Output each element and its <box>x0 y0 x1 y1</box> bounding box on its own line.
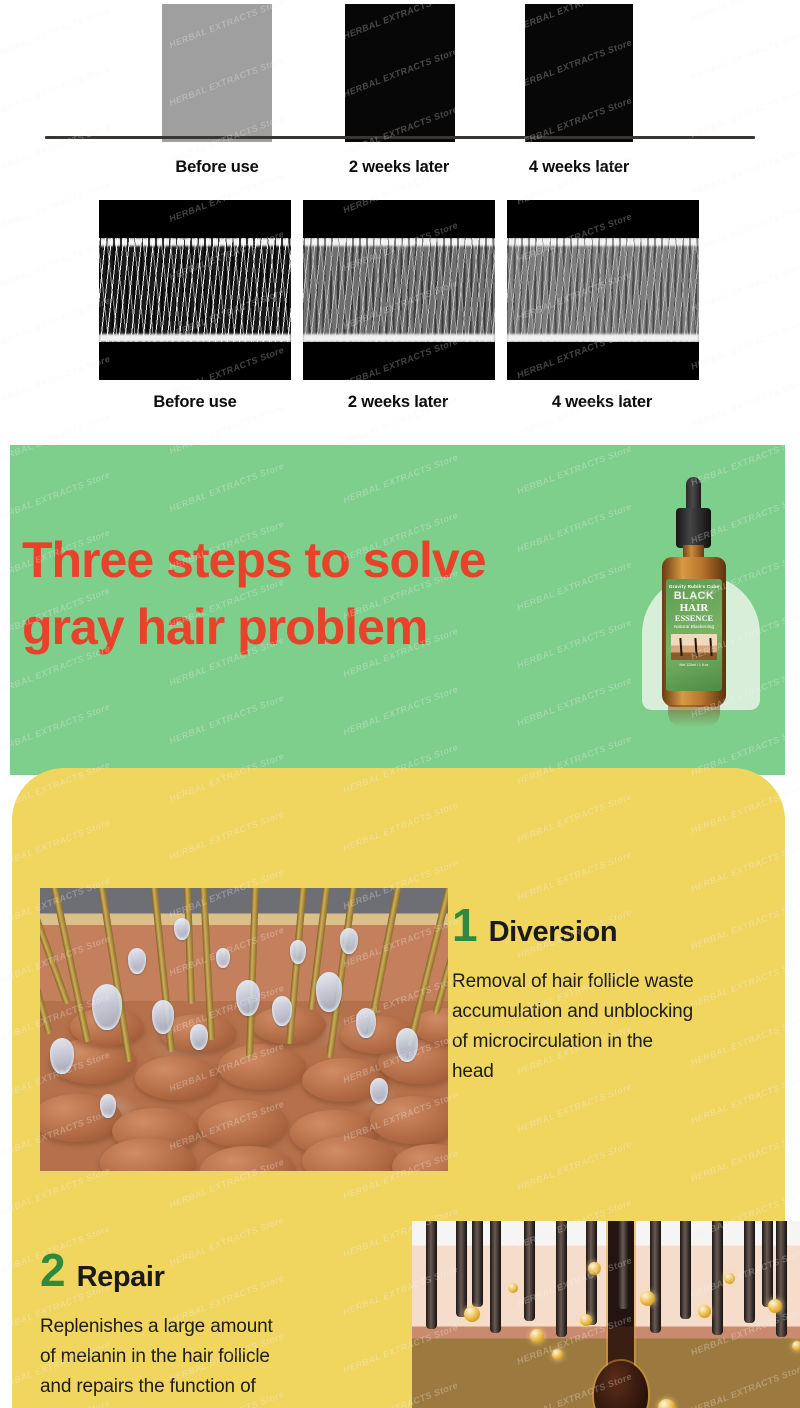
melanin-particle <box>580 1314 592 1326</box>
melanin-particle <box>552 1349 563 1360</box>
hair-shaft <box>762 1221 773 1307</box>
melanin-particle <box>658 1399 675 1408</box>
step-1-body: Removal of hair follicle waste accumulat… <box>452 967 782 1087</box>
bottle-body: Gravity Rubik's Cube BLACK HAIR ESSENCE … <box>662 557 726 707</box>
water-droplet <box>128 948 146 974</box>
bottle-tagline: Natural Blackening <box>666 625 722 630</box>
water-droplet <box>50 1038 74 1074</box>
step-1-number: 1 <box>452 905 477 946</box>
hair-shaft <box>524 1221 535 1321</box>
step-1-image-scalp-cleansing <box>40 888 448 1171</box>
step-1-text-block: 1 Diversion Removal of hair follicle was… <box>452 905 782 1087</box>
chart-category-labels: Before use 2 weeks later 4 weeks later <box>0 158 800 186</box>
cuticle-texture <box>303 238 495 342</box>
hair-shaft <box>650 1221 661 1333</box>
microscope-image-4-weeks <box>507 200 699 380</box>
step-1-body-line-1: Removal of hair follicle waste <box>452 967 782 997</box>
water-droplet <box>190 1024 208 1050</box>
artwork-hair-3 <box>709 638 712 656</box>
hair-shaft <box>426 1221 437 1329</box>
step-1-body-line-3: of microcirculation in the <box>452 1027 782 1057</box>
melanin-particle <box>698 1305 711 1318</box>
water-droplet <box>236 980 260 1016</box>
water-droplet <box>370 1078 388 1104</box>
skin-cell <box>135 1056 219 1100</box>
scalp-illustration <box>40 888 448 1171</box>
follicle-illustration <box>412 1221 800 1408</box>
dropper-cap <box>676 508 711 548</box>
water-droplet <box>174 918 190 940</box>
hair-shaft-band <box>507 238 699 342</box>
melanin-particle <box>464 1306 480 1322</box>
hair-shaft <box>680 1221 691 1319</box>
hair-shaft <box>618 1221 629 1309</box>
water-droplet <box>92 984 122 1030</box>
product-bottle: Gravity Rubik's Cube BLACK HAIR ESSENCE … <box>642 475 762 735</box>
chart-label-before-use: Before use <box>147 158 287 177</box>
hair-shaft <box>490 1221 501 1333</box>
hair-shaft <box>712 1221 723 1335</box>
melanin-particle <box>724 1273 735 1284</box>
infographic-page: Before use 2 weeks later 4 weeks later <box>0 0 800 1408</box>
water-droplet <box>100 1094 116 1118</box>
step-2-image-follicle-melanin <box>412 1221 800 1408</box>
bottle-label: Gravity Rubik's Cube BLACK HAIR ESSENCE … <box>666 579 722 691</box>
left-margin-strip <box>0 1155 12 1408</box>
step-2-body: Replenishes a large amount of melanin in… <box>40 1312 370 1402</box>
water-droplet <box>396 1028 418 1062</box>
bottle-name-black: BLACK <box>666 591 722 603</box>
follicle-bulb <box>594 1361 648 1408</box>
skin-cell <box>198 1100 288 1148</box>
hair-shaft <box>776 1221 787 1337</box>
water-droplet <box>152 1000 174 1034</box>
chart-baseline-axis <box>45 136 755 139</box>
bottle-name-essence: ESSENCE <box>666 614 722 624</box>
melanin-particle <box>792 1341 800 1351</box>
hair-shaft-band <box>99 238 291 342</box>
hair-shaft <box>472 1221 483 1307</box>
hero-banner: Three steps to solve gray hair problem G… <box>10 445 785 775</box>
water-droplet <box>356 1008 376 1038</box>
microscope-labels: Before use 2 weeks later 4 weeks later <box>0 393 800 421</box>
step-1-heading: 1 Diversion <box>452 905 782 949</box>
skin-cell <box>218 1044 306 1090</box>
hair-shaft <box>556 1221 567 1337</box>
artwork-hair-2 <box>694 638 697 656</box>
bar-4-weeks-later <box>525 4 633 142</box>
microscope-comparison: Before use 2 weeks later 4 weeks later <box>0 190 800 440</box>
step-1-body-line-2: accumulation and unblocking <box>452 997 782 1027</box>
microscope-image-2-weeks <box>303 200 495 380</box>
hero-title-line-2: gray hair problem <box>22 594 662 661</box>
step-2-title: Repair <box>77 1261 165 1294</box>
bar-2-weeks-later <box>345 4 455 142</box>
artwork-hair-1 <box>679 638 682 656</box>
bottle-net-volume: Net 120ml / 1 fl oz <box>666 663 722 667</box>
shaft-edge-bottom <box>303 334 495 342</box>
microscope-label-2-weeks: 2 weeks later <box>328 393 468 412</box>
microscope-label-4-weeks: 4 weeks later <box>532 393 672 412</box>
bottle-brand: Gravity Rubik's Cube <box>666 584 722 589</box>
hero-title-line-1: Three steps to solve <box>22 532 486 588</box>
chart-label-4-weeks: 4 weeks later <box>509 158 649 177</box>
chart-plot-area <box>0 0 800 142</box>
shaft-edge-bottom <box>507 334 699 342</box>
melanin-particle <box>768 1299 782 1313</box>
step-1-title: Diversion <box>489 916 618 949</box>
efficacy-bar-chart: Before use 2 weeks later 4 weeks later <box>0 0 800 190</box>
water-droplet <box>340 928 358 954</box>
melanin-particle <box>508 1283 518 1293</box>
bottle-reflection <box>668 705 720 727</box>
step-2-heading: 2 Repair <box>40 1250 370 1294</box>
step-1-body-line-4: head <box>452 1057 782 1087</box>
step-2-number: 2 <box>40 1250 65 1291</box>
step-2-text-block: 2 Repair Replenishes a large amount of m… <box>40 1250 370 1402</box>
melanin-particle <box>588 1262 601 1275</box>
cuticle-texture <box>99 238 291 342</box>
step-2-body-line-3: and repairs the function of <box>40 1372 370 1402</box>
hair-shaft <box>184 888 195 1004</box>
step-2-body-line-1: Replenishes a large amount <box>40 1312 370 1342</box>
water-droplet <box>272 996 292 1026</box>
water-droplet <box>290 940 306 964</box>
chart-label-2-weeks: 2 weeks later <box>329 158 469 177</box>
page-title: Three steps to solve gray hair problem <box>22 527 662 661</box>
microscope-label-before-use: Before use <box>125 393 265 412</box>
cuticle-texture <box>507 238 699 342</box>
melanin-particle <box>530 1329 544 1343</box>
water-droplet <box>316 972 342 1012</box>
hair-shaft <box>744 1221 755 1323</box>
water-droplet <box>216 948 230 968</box>
hair-shaft-band <box>303 238 495 342</box>
microscope-image-before-use <box>99 200 291 380</box>
bar-before-use <box>162 4 272 142</box>
skin-cell <box>392 1144 448 1171</box>
melanin-particle <box>640 1291 655 1306</box>
hair-shaft <box>456 1221 467 1317</box>
step-2-body-line-2: of melanin in the hair follicle <box>40 1342 370 1372</box>
bottle-follicle-artwork <box>671 634 717 660</box>
shaft-edge-bottom <box>99 334 291 342</box>
bottle-name-hair: HAIR <box>666 603 722 615</box>
skin-cell <box>200 1146 296 1171</box>
